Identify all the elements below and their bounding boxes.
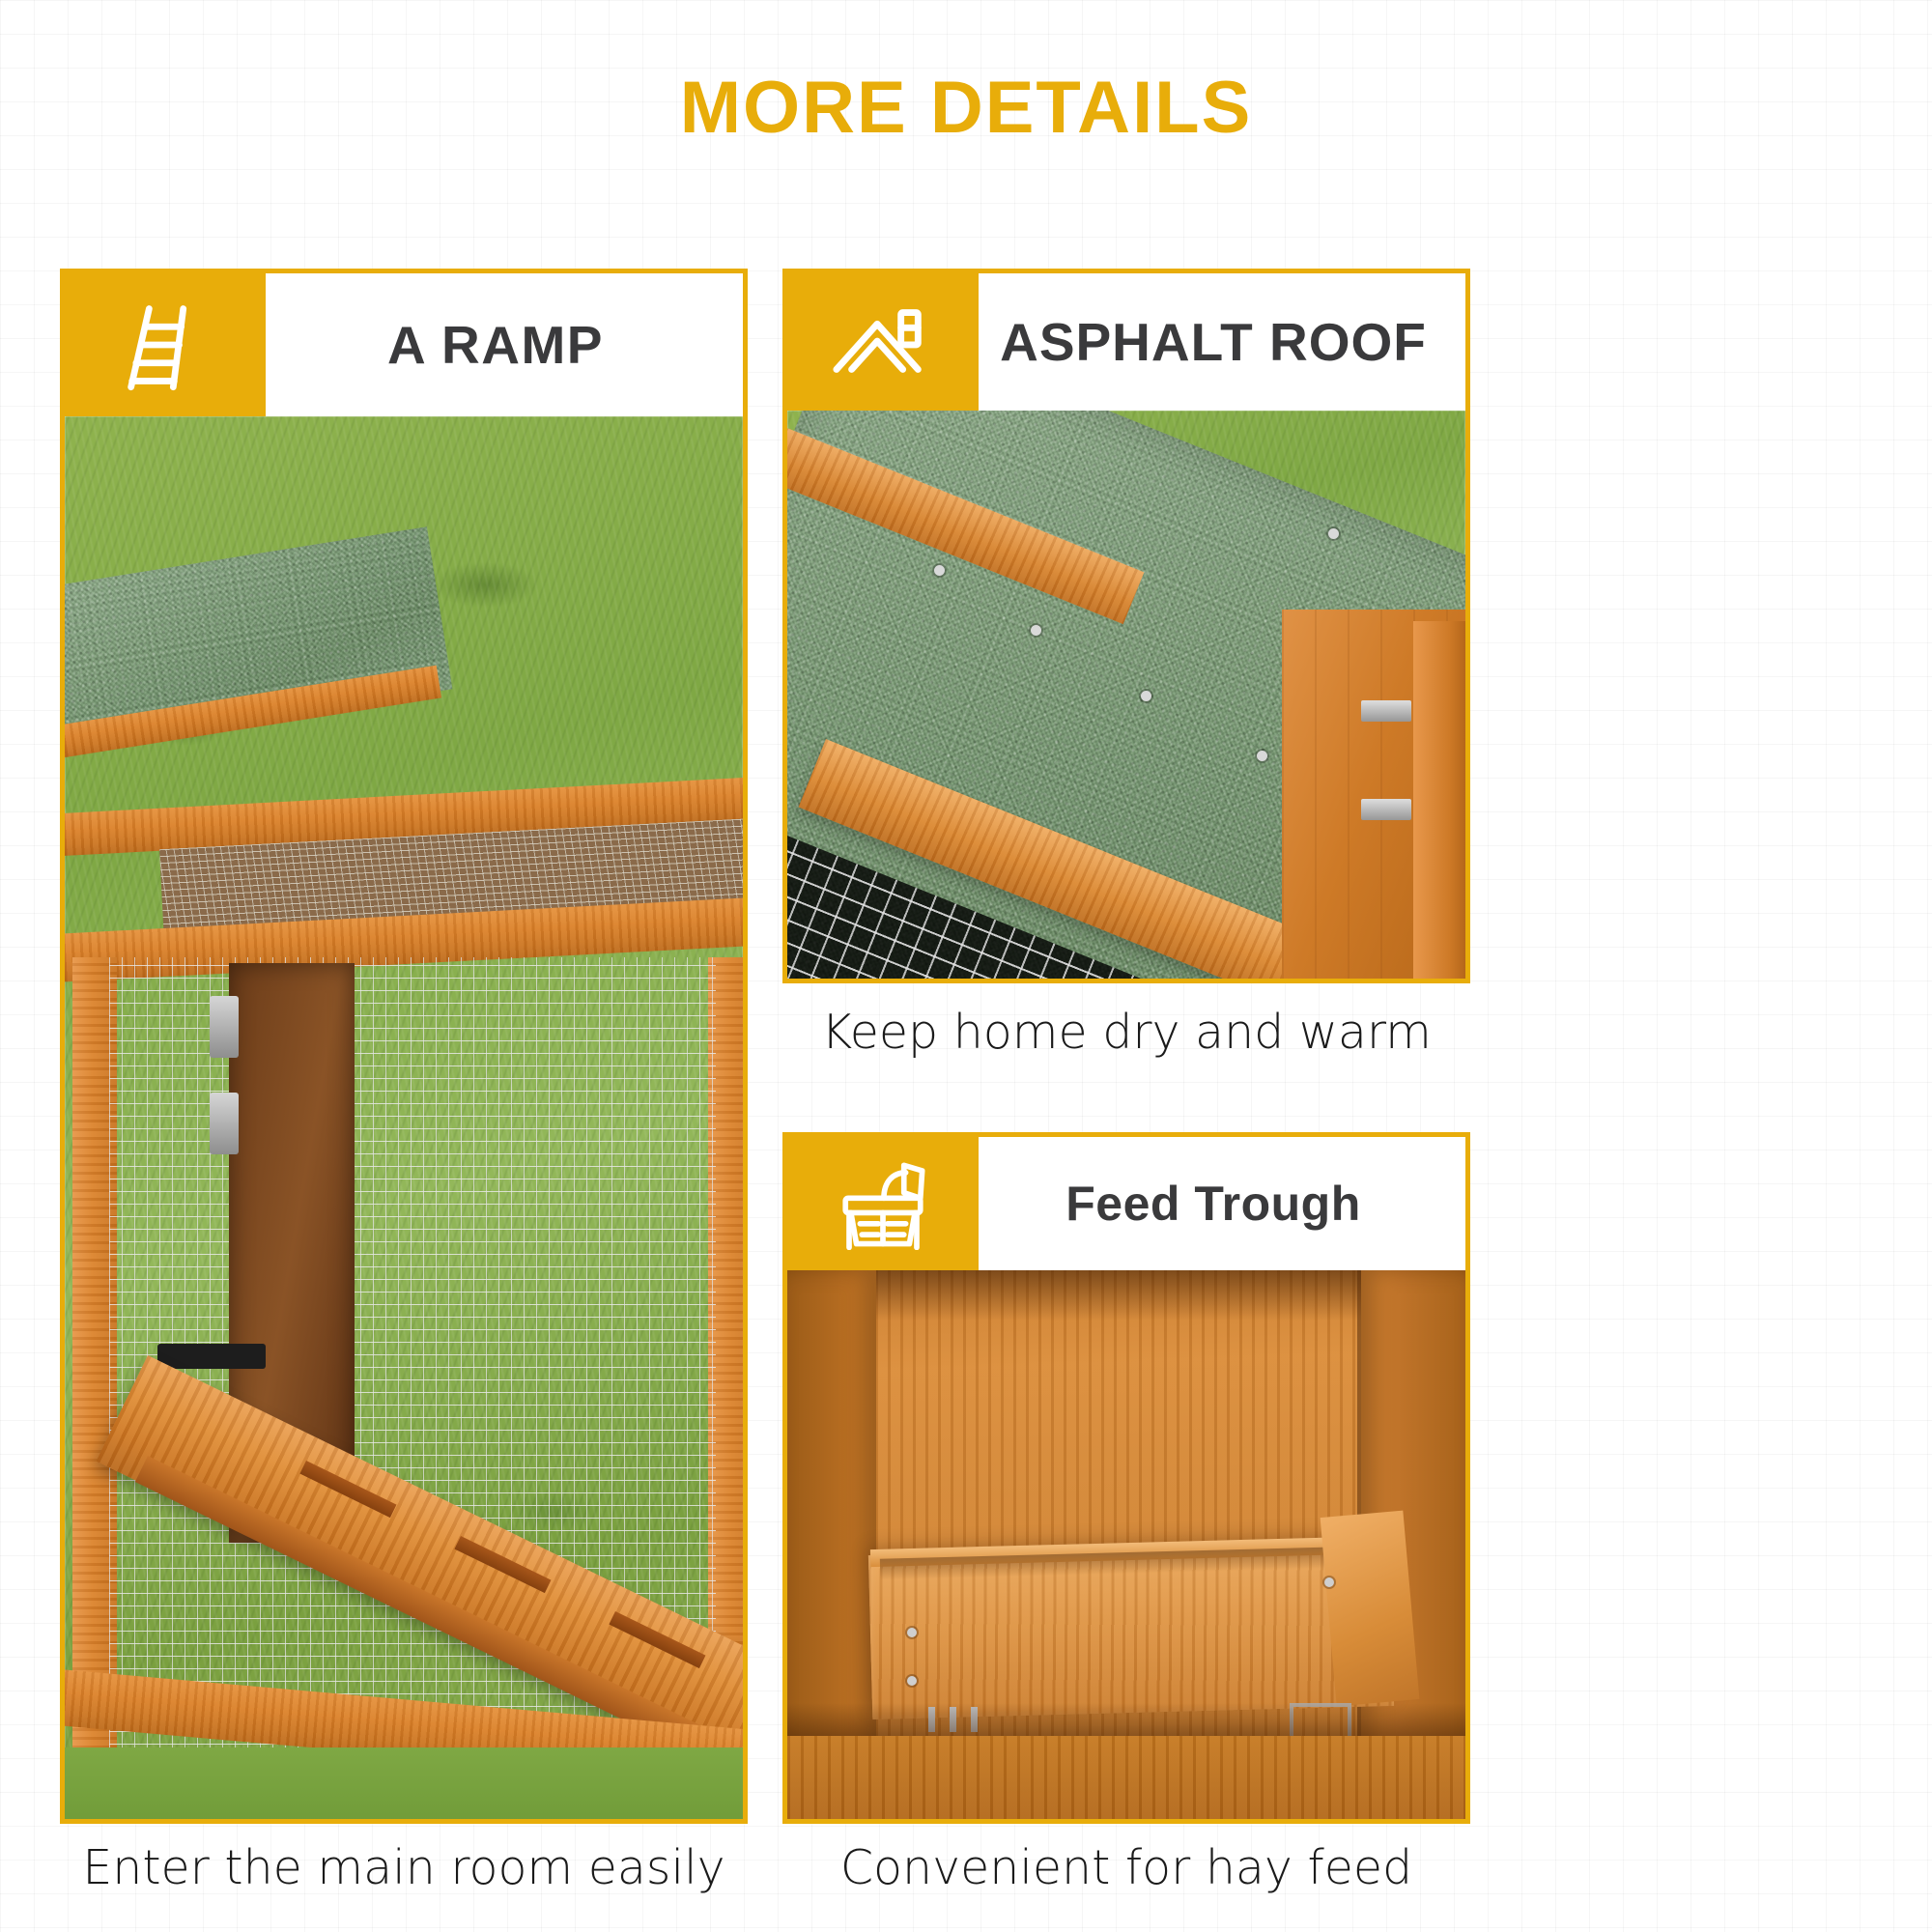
roof-screw bbox=[1257, 751, 1267, 761]
header-label-wrap-roof: ASPHALT ROOF bbox=[979, 273, 1465, 411]
card-title-roof: ASPHALT ROOF bbox=[1000, 316, 1427, 369]
header-label-wrap-trough: Feed Trough bbox=[979, 1137, 1465, 1270]
card-title-ramp: A RAMP bbox=[387, 319, 604, 372]
roof-screw bbox=[1031, 625, 1041, 636]
hutch-door-hinge bbox=[1361, 799, 1411, 820]
caption-trough: Convenient for hay feed bbox=[782, 1840, 1470, 1895]
trough-screw bbox=[1324, 1577, 1334, 1587]
roof-screw bbox=[1141, 691, 1151, 701]
infographic-page: MORE DETAILS A RAMP bbox=[0, 0, 1932, 1932]
hinge-bottom bbox=[210, 1093, 239, 1154]
feature-card-roof: ASPHALT ROOF bbox=[782, 269, 1470, 983]
roof-screw bbox=[1328, 528, 1339, 539]
card-header-trough: Feed Trough bbox=[787, 1137, 1465, 1270]
icon-box-trough bbox=[787, 1137, 979, 1270]
ladder-ramp-icon bbox=[115, 295, 215, 395]
hutch-floor-board bbox=[787, 1736, 1465, 1821]
page-title: MORE DETAILS bbox=[0, 66, 1932, 150]
hutch-door-hinge bbox=[1361, 700, 1411, 722]
roof-screw bbox=[934, 565, 945, 576]
card-title-trough: Feed Trough bbox=[1065, 1179, 1361, 1228]
feed-trough-end-cap bbox=[1321, 1511, 1420, 1707]
trough-screw bbox=[907, 1676, 917, 1686]
caption-ramp: Enter the main room easily bbox=[60, 1840, 748, 1895]
card-header-roof: ASPHALT ROOF bbox=[787, 273, 1465, 411]
roof-house-icon bbox=[831, 296, 935, 388]
hutch-floor-shadow bbox=[787, 1703, 1465, 1736]
hutch-corner-post bbox=[1413, 621, 1465, 980]
card-header-ramp: A RAMP bbox=[65, 273, 743, 416]
feed-trough-icon bbox=[833, 1157, 933, 1250]
photo-ramp bbox=[65, 416, 743, 1821]
caption-roof: Keep home dry and warm bbox=[782, 1005, 1470, 1060]
feature-card-ramp: A RAMP bbox=[60, 269, 748, 1824]
feature-card-trough: Feed Trough bbox=[782, 1132, 1470, 1824]
foreground-grass bbox=[65, 1747, 743, 1821]
photo-trough bbox=[787, 1270, 1465, 1821]
header-label-wrap-ramp: A RAMP bbox=[266, 273, 743, 416]
icon-box-ramp bbox=[65, 273, 266, 416]
door-latch bbox=[157, 1344, 266, 1369]
trough-screw bbox=[907, 1628, 917, 1637]
hinge-top bbox=[210, 996, 239, 1058]
icon-box-roof bbox=[787, 273, 979, 411]
photo-roof bbox=[787, 411, 1465, 980]
